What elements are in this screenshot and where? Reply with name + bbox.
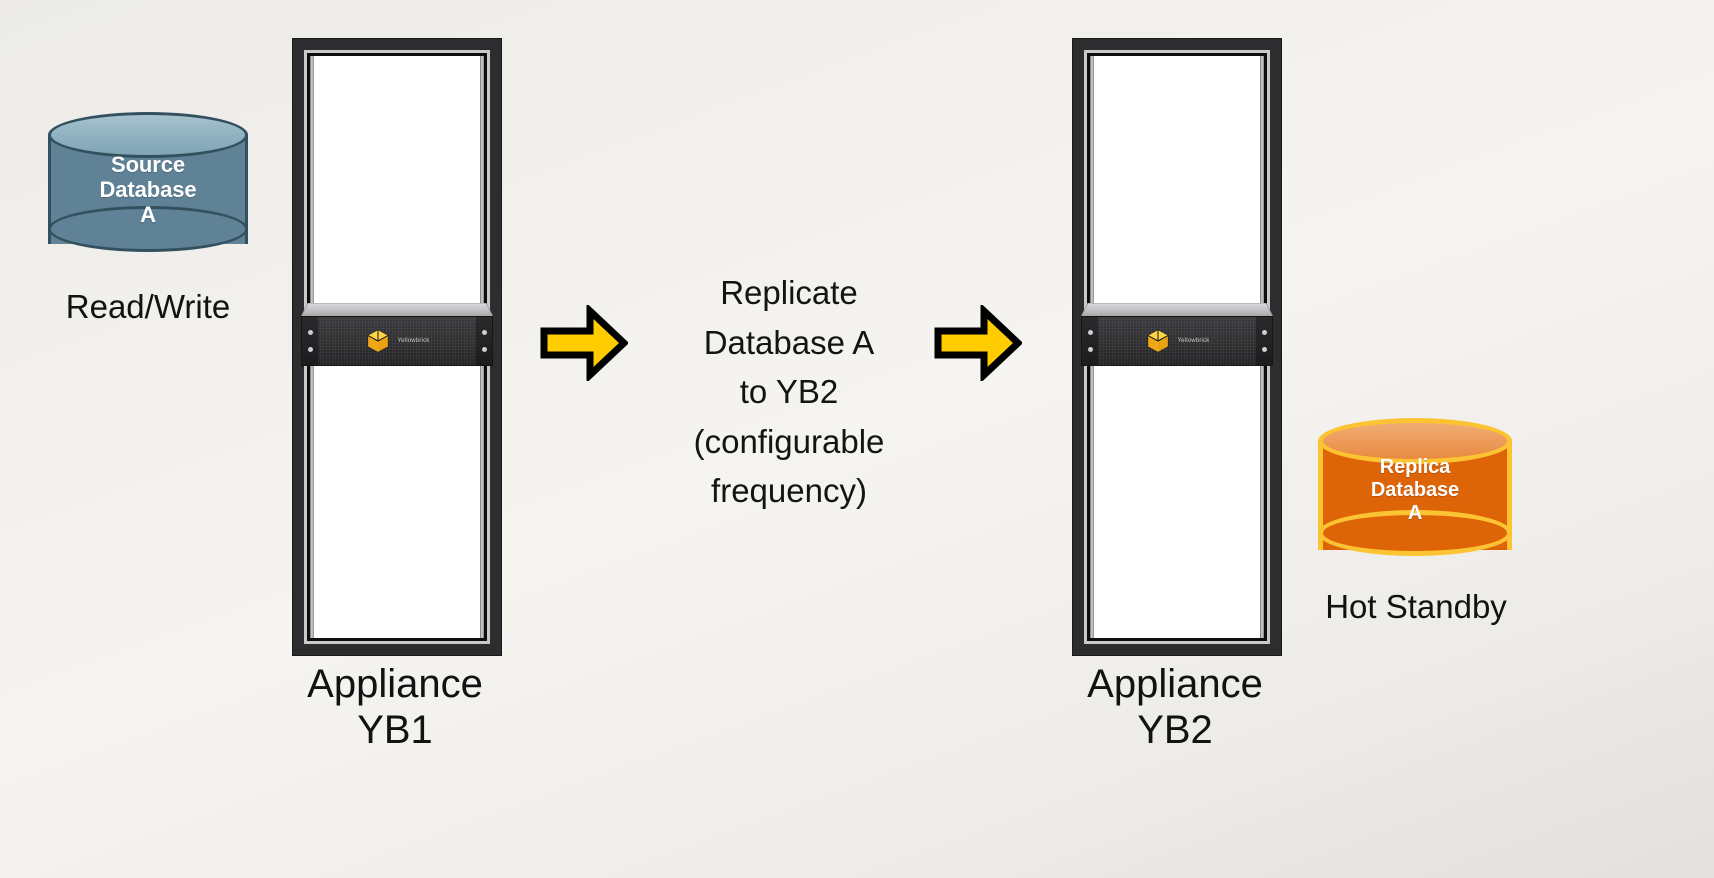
rack-screw-icon bbox=[482, 330, 487, 335]
hot-standby-caption: Hot Standby bbox=[1285, 588, 1547, 626]
read-write-caption: Read/Write bbox=[18, 288, 278, 326]
appliance-yb1-rack: Yellowbrick bbox=[292, 38, 502, 656]
replica-database-label: Replica Database A bbox=[1318, 456, 1512, 524]
server-chassis-top bbox=[1081, 303, 1273, 316]
rack-screw-icon bbox=[1088, 347, 1093, 352]
replicate-line-5: frequency) bbox=[632, 466, 946, 516]
yb1-server-unit: Yellowbrick bbox=[301, 299, 493, 366]
yb1-branding: Yellowbrick bbox=[365, 328, 430, 354]
yb2-server-unit: Yellowbrick bbox=[1081, 299, 1273, 366]
replicate-line-2: Database A bbox=[632, 318, 946, 368]
rack-ear-right bbox=[476, 317, 492, 365]
rack-screw-icon bbox=[482, 347, 487, 352]
appliance-2-caption-line-2: YB2 bbox=[1030, 708, 1320, 754]
replication-arrow-left bbox=[540, 305, 628, 381]
replicate-line-3: to YB2 bbox=[632, 367, 946, 417]
replicate-line-1: Replicate bbox=[632, 268, 946, 318]
appliance-yb2-caption: Appliance YB2 bbox=[1030, 662, 1320, 753]
yb2-branding: Yellowbrick bbox=[1145, 328, 1210, 354]
rack-ear-right bbox=[1256, 317, 1272, 365]
rack-ear-left bbox=[1082, 317, 1098, 365]
appliance-yb2-rack: Yellowbrick bbox=[1072, 38, 1282, 656]
replication-arrow-right bbox=[934, 305, 1022, 381]
rack-screw-icon bbox=[308, 347, 313, 352]
rack-screw-icon bbox=[1262, 347, 1267, 352]
yellowbrick-cube-logo-icon bbox=[1145, 328, 1171, 354]
diagram-canvas: Source Database A Read/Write bbox=[0, 0, 1714, 878]
appliance-2-caption-line-1: Appliance bbox=[1030, 662, 1320, 708]
yb2-brand-text: Yellowbrick bbox=[1178, 338, 1210, 344]
replica-label-line-1: Replica bbox=[1318, 456, 1512, 479]
source-database-cylinder: Source Database A bbox=[48, 112, 248, 264]
replicate-line-4: (configurable bbox=[632, 417, 946, 467]
source-label-line-1: Source bbox=[48, 152, 248, 177]
rack-screw-icon bbox=[1088, 330, 1093, 335]
source-label-line-2: Database bbox=[48, 177, 248, 202]
appliance-1-caption-line-2: YB1 bbox=[250, 708, 540, 754]
server-chassis-top bbox=[301, 303, 493, 316]
rack-screw-icon bbox=[1262, 330, 1267, 335]
server-front-panel: Yellowbrick bbox=[1081, 316, 1273, 366]
source-database-label: Source Database A bbox=[48, 152, 248, 227]
replica-label-line-3: A bbox=[1318, 502, 1512, 525]
replica-database-cylinder: Replica Database A bbox=[1318, 418, 1512, 570]
server-front-panel: Yellowbrick bbox=[301, 316, 493, 366]
appliance-1-caption-line-1: Appliance bbox=[250, 662, 540, 708]
yb1-brand-text: Yellowbrick bbox=[398, 338, 430, 344]
rack-screw-icon bbox=[308, 330, 313, 335]
replica-label-line-2: Database bbox=[1318, 479, 1512, 502]
replication-description-text: Replicate Database A to YB2 (configurabl… bbox=[632, 268, 946, 516]
rack-ear-left bbox=[302, 317, 318, 365]
source-label-line-3: A bbox=[48, 202, 248, 227]
appliance-yb1-caption: Appliance YB1 bbox=[250, 662, 540, 753]
yellowbrick-cube-logo-icon bbox=[365, 328, 391, 354]
